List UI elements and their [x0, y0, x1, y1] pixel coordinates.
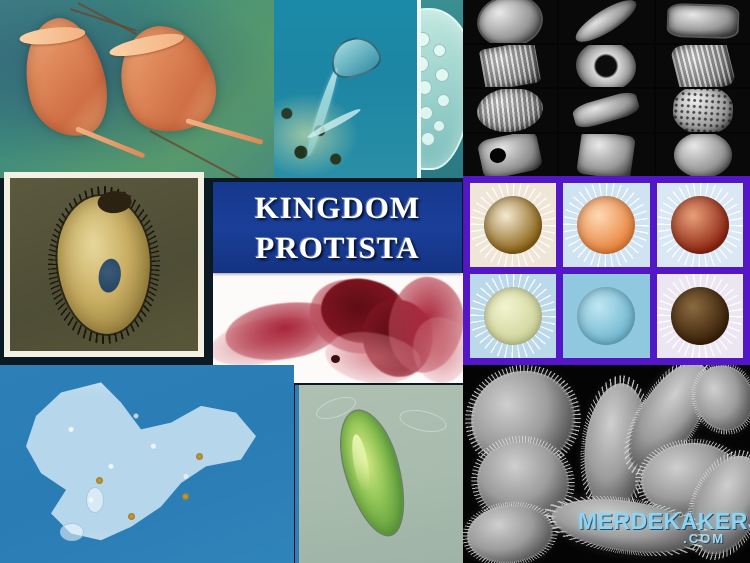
title-line-1: KINGDOM: [255, 188, 420, 228]
diatom-frustule: [479, 45, 541, 88]
flagellate-cell: [13, 10, 118, 145]
title-line-2: PROTISTA: [255, 228, 419, 268]
food-vacuole: [128, 513, 135, 520]
vacuole: [421, 32, 430, 47]
diatom-frustule: [577, 134, 637, 177]
flagellate-disc: [19, 24, 86, 47]
panel-radiolarian-grid: [463, 176, 750, 365]
contractile-vacuole: [86, 487, 104, 513]
radiolarian-body: [671, 287, 729, 345]
radiolarian-cell: [563, 274, 649, 358]
diatom-frustule: [674, 134, 732, 177]
food-vacuole: [96, 477, 103, 484]
diatom-cell: [559, 0, 653, 43]
radiolarian-cell: [470, 183, 556, 267]
paramecium-cell: [421, 8, 463, 170]
vacuole: [421, 106, 433, 120]
radiolarian-body: [484, 196, 542, 254]
background-cell: [397, 406, 448, 436]
flagellate-tail: [75, 126, 145, 158]
diatom-frustule: [477, 134, 544, 177]
radiolarian-body: [577, 196, 635, 254]
diatom-cell: [656, 0, 750, 43]
radiolarian-cell: [563, 183, 649, 267]
euglena-cell: [330, 404, 415, 541]
flagellate-tail: [185, 118, 263, 145]
vacuole: [433, 120, 445, 132]
diatom-cell: [463, 134, 557, 177]
panel-vorticella: [274, 0, 417, 178]
protista-collage: KINGDOM PROTISTA MERDEKAKERJA .COM: [0, 0, 750, 563]
diatom-cell: [463, 0, 557, 43]
diatom-cell: [463, 89, 557, 132]
flagellum: [150, 130, 248, 178]
vacuole: [435, 68, 449, 82]
diatom-frustule: [668, 5, 737, 37]
flagellum: [78, 2, 137, 35]
diatom-cell: [656, 89, 750, 132]
flagellate-disc: [108, 29, 186, 60]
panel-paramecium: [421, 0, 463, 178]
diatom-frustule: [574, 45, 639, 88]
radiolarian-body: [577, 287, 635, 345]
diatom-cell: [559, 45, 653, 88]
diatom-cell: [656, 45, 750, 88]
radiolarian-body: [484, 287, 542, 345]
food-vacuole: [196, 453, 203, 460]
diatom-cell: [656, 134, 750, 177]
panel-framed-ciliate: [4, 172, 204, 357]
diatom-frustule: [571, 90, 641, 131]
diatom-frustule: [671, 89, 734, 132]
chloroplast-highlight: [349, 433, 373, 493]
radiolarian-cell: [470, 274, 556, 358]
diatom-frustule: [476, 0, 544, 43]
diatom-cell: [463, 45, 557, 88]
diatom-frustule: [475, 89, 545, 132]
diatom-frustule: [670, 45, 736, 88]
macronucleus: [97, 257, 124, 294]
vacuole: [421, 80, 432, 95]
vacuole: [433, 44, 446, 57]
panel-flagellates: [0, 0, 274, 178]
panel-diatom-grid: [463, 0, 750, 176]
panel-euglena: [295, 385, 463, 563]
diatom-cell: [559, 134, 653, 177]
cytoplasm-granules: [16, 379, 266, 547]
contractile-vacuole: [60, 523, 84, 541]
radiolarian-cell: [657, 183, 743, 267]
vacuole: [437, 94, 450, 107]
sem-ciliate: [464, 501, 556, 563]
vacuole: [421, 56, 429, 72]
diatom-cell: [559, 89, 653, 132]
debris-spot: [331, 355, 340, 363]
title-banner: KINGDOM PROTISTA: [213, 182, 462, 273]
panel-ciliate-sem: [463, 365, 750, 563]
micrograph-field: [10, 178, 198, 351]
radiolarian-body: [671, 196, 729, 254]
diatom-frustule: [571, 0, 642, 43]
vacuole: [421, 132, 435, 146]
panel-amoeba: [0, 365, 294, 563]
radiolarian-cell: [657, 274, 743, 358]
food-vacuole: [182, 493, 189, 500]
